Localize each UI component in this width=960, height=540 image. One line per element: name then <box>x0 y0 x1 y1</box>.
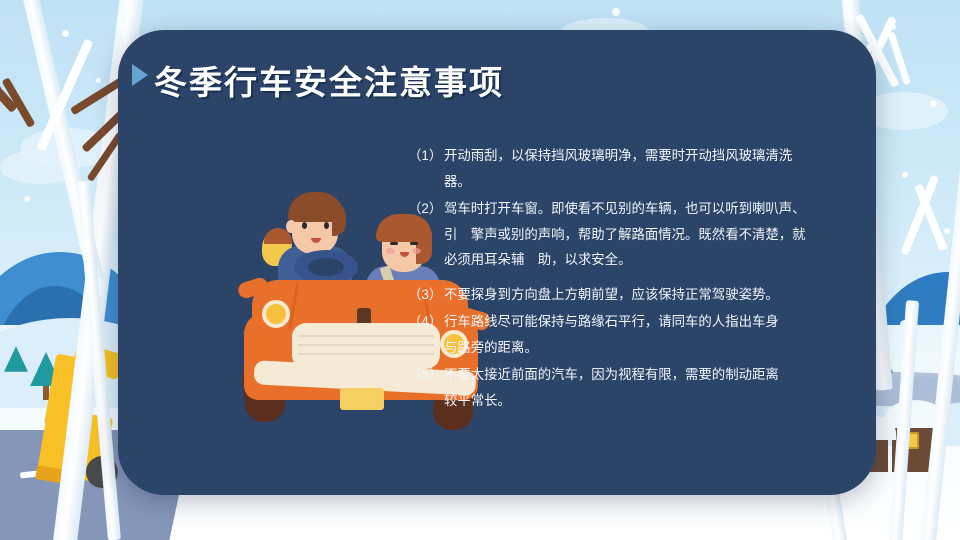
list-item-line: 必须用耳朵辅 助，以求安全。 <box>444 252 631 267</box>
list-item: （3） 不要探身到方向盘上方朝前望，应该保持正常驾驶姿势。 <box>408 282 848 308</box>
triangle-accent-icon <box>132 64 148 86</box>
list-item-line: 驾车时打开车窗。即使看不见别的车辆，也可以听到喇叭声、 <box>444 201 806 216</box>
snowflake-icon <box>62 30 69 37</box>
list-item-line: 不要探身到方向盘上方朝前望，应该保持正常驾驶姿势。 <box>444 287 779 302</box>
snowflake-icon <box>612 8 620 16</box>
list-item: （5） 不要太接近前面的汽车，因为视程有限，需要的制动距离 较平常长。 <box>408 362 848 413</box>
list-item-line: 开动雨刮，以保持挡风玻璃明净，需要时开动挡风玻璃清洗 <box>444 148 792 163</box>
snowflake-icon <box>902 172 908 178</box>
content-card: 冬季行车安全注意事项 <box>118 30 876 495</box>
car-headlight-left <box>262 300 290 328</box>
list-item-line: 与路旁的距离。 <box>444 340 538 355</box>
safety-tips-list: （1） 开动雨刮，以保持挡风玻璃明净，需要时开动挡风玻璃清洗 器。 （2） 驾车… <box>408 143 848 415</box>
list-item-line: 引 擎声或别的声响，帮助了解路面情况。既然看不清楚，就 <box>444 227 806 242</box>
list-item: （2） 驾车时打开车窗。即使看不见别的车辆，也可以听到喇叭声、 引 擎声或别的声… <box>408 196 848 273</box>
slide-canvas: 冬季行车安全注意事项 <box>0 0 960 540</box>
list-item-line: 器。 <box>444 174 471 189</box>
list-item-number: （2） <box>408 196 442 222</box>
page-title: 冬季行车安全注意事项 <box>154 56 504 104</box>
list-item-line: 行车路线尽可能保持与路缘石平行，请同车的人指出车身 <box>444 314 779 329</box>
driver-eye-right <box>324 222 329 229</box>
snowflake-icon <box>930 100 937 107</box>
list-item: （4） 行车路线尽可能保持与路缘石平行，请同车的人指出车身 与路旁的距离。 <box>408 309 848 360</box>
list-item-line: 较平常长。 <box>444 393 511 408</box>
list-item-number: （3） <box>408 282 442 308</box>
list-item: （1） 开动雨刮，以保持挡风玻璃明净，需要时开动挡风玻璃清洗 器。 <box>408 143 848 194</box>
spacer <box>408 275 848 282</box>
driver-hair-side <box>332 204 346 236</box>
passenger-eye-left <box>390 242 398 245</box>
driver-eye-left <box>302 222 307 229</box>
steering-wheel-hub <box>308 258 344 276</box>
pine-tree-icon <box>4 346 28 372</box>
list-item-number: （4） <box>408 309 442 335</box>
snowflake-icon <box>944 228 950 234</box>
car-license-plate <box>340 388 384 410</box>
passenger-cheek <box>386 248 395 254</box>
snowflake-icon <box>96 78 101 83</box>
list-item-number: （1） <box>408 143 442 169</box>
driver-ear <box>286 220 296 233</box>
list-item-number: （5） <box>408 362 442 388</box>
snowflake-icon <box>24 196 30 202</box>
list-item-line: 不要太接近前面的汽车，因为视程有限，需要的制动距离 <box>444 367 779 382</box>
